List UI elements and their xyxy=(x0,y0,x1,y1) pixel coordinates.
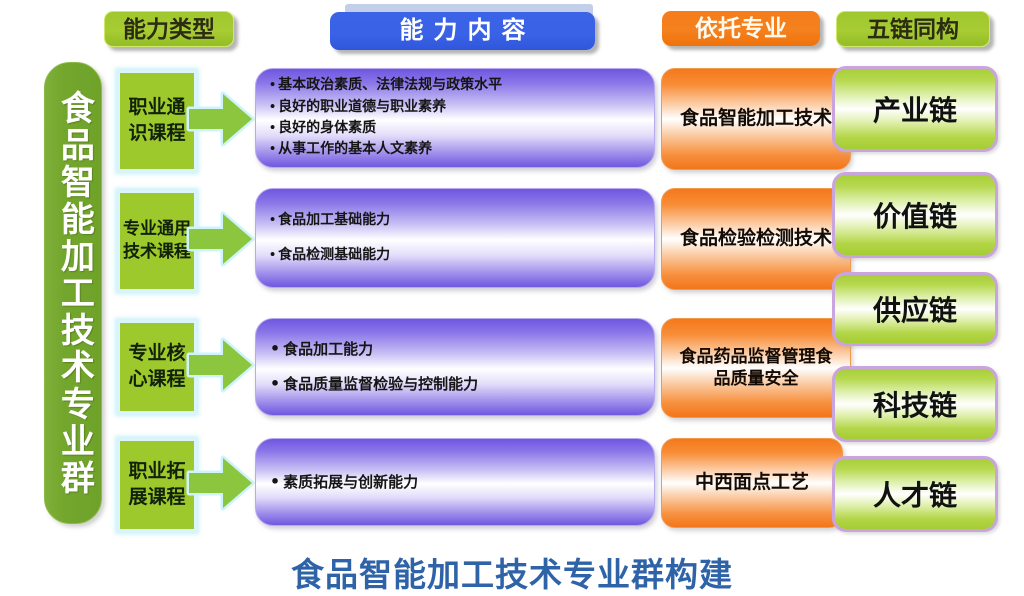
category-box-general-vocational: 职业通识课程 xyxy=(117,70,197,172)
category-box-general-technical: 专业通用技术课程 xyxy=(117,190,197,292)
category-box-vocational-ext: 职业拓展课程 xyxy=(117,438,197,532)
category-box-core-major: 专业核心课程 xyxy=(117,320,197,414)
chain-box-value: 价值链 xyxy=(832,172,998,258)
diagram-canvas: 能力类型 能力内容 依托专业 五链同构 食品智能加工技术专业群 职业通识课程 专… xyxy=(0,0,1024,596)
content-box-3: 食品加工能力 食品质量监督检验与控制能力 xyxy=(255,318,655,416)
major-label: 食品检验检测技术 xyxy=(680,227,832,252)
major-group-bar-label: 食品智能加工技术专业群 xyxy=(56,90,91,497)
header-ability-content: 能力内容 xyxy=(330,12,595,50)
category-label: 职业拓展课程 xyxy=(120,459,194,510)
header-ability-type: 能力类型 xyxy=(104,11,234,47)
category-label: 专业通用技术课程 xyxy=(120,218,194,264)
header-five-chain-label: 五链同构 xyxy=(867,18,959,41)
chain-box-tech: 科技链 xyxy=(832,366,998,442)
content-box-1: 基本政治素质、法律法规与政策水平 良好的职业道德与职业素养 良好的身体素质 从事… xyxy=(255,68,655,168)
header-support-major-label: 依托专业 xyxy=(695,17,787,40)
chain-label: 供应链 xyxy=(873,289,957,329)
content-line: 食品加工基础能力 xyxy=(270,210,640,231)
diagram-caption: 食品智能加工技术专业群构建 xyxy=(0,548,1024,596)
content-line: 食品检测基础能力 xyxy=(270,245,640,266)
chain-box-talent: 人才链 xyxy=(832,456,998,532)
major-label: 食品药品监督管理食品质量安全 xyxy=(676,346,836,390)
major-box-4: 中西面点工艺 xyxy=(661,438,843,528)
arrow-to-content-3 xyxy=(186,334,256,396)
header-ability-content-label: 能力内容 xyxy=(390,19,536,43)
header-support-major: 依托专业 xyxy=(662,11,820,46)
content-line: 素质拓展与创新能力 xyxy=(270,471,640,494)
header-five-chain: 五链同构 xyxy=(836,11,990,47)
chain-label: 价值链 xyxy=(873,195,957,235)
header-ability-type-label: 能力类型 xyxy=(123,18,215,41)
major-label: 中西面点工艺 xyxy=(695,471,809,496)
content-line: 食品加工能力 xyxy=(270,338,640,361)
content-line: 良好的身体素质 xyxy=(270,118,640,139)
arrow-to-content-2 xyxy=(186,208,256,270)
arrow-to-content-1 xyxy=(186,88,256,150)
content-line: 基本政治素质、法律法规与政策水平 xyxy=(270,75,640,96)
chain-label: 人才链 xyxy=(873,474,957,514)
diagram-caption-label: 食品智能加工技术专业群构建 xyxy=(291,558,733,594)
chain-box-industry: 产业链 xyxy=(832,66,998,152)
major-group-bar: 食品智能加工技术专业群 xyxy=(44,62,102,524)
major-box-2: 食品检验检测技术 xyxy=(661,188,851,290)
content-line: 食品质量监督检验与控制能力 xyxy=(270,373,640,396)
content-box-4: 素质拓展与创新能力 xyxy=(255,438,655,526)
arrow-to-content-4 xyxy=(186,452,256,514)
major-label: 食品智能加工技术 xyxy=(680,107,832,132)
chain-label: 科技链 xyxy=(873,384,957,424)
content-line: 良好的职业道德与职业素养 xyxy=(270,97,640,118)
major-box-1: 食品智能加工技术 xyxy=(661,68,851,170)
chain-box-supply: 供应链 xyxy=(832,272,998,346)
category-label: 专业核心课程 xyxy=(120,341,194,392)
major-box-3: 食品药品监督管理食品质量安全 xyxy=(661,318,851,418)
chain-label: 产业链 xyxy=(873,89,957,129)
content-box-2: 食品加工基础能力 食品检测基础能力 xyxy=(255,188,655,288)
content-line: 从事工作的基本人文素养 xyxy=(270,139,640,160)
category-label: 职业通识课程 xyxy=(120,95,194,146)
